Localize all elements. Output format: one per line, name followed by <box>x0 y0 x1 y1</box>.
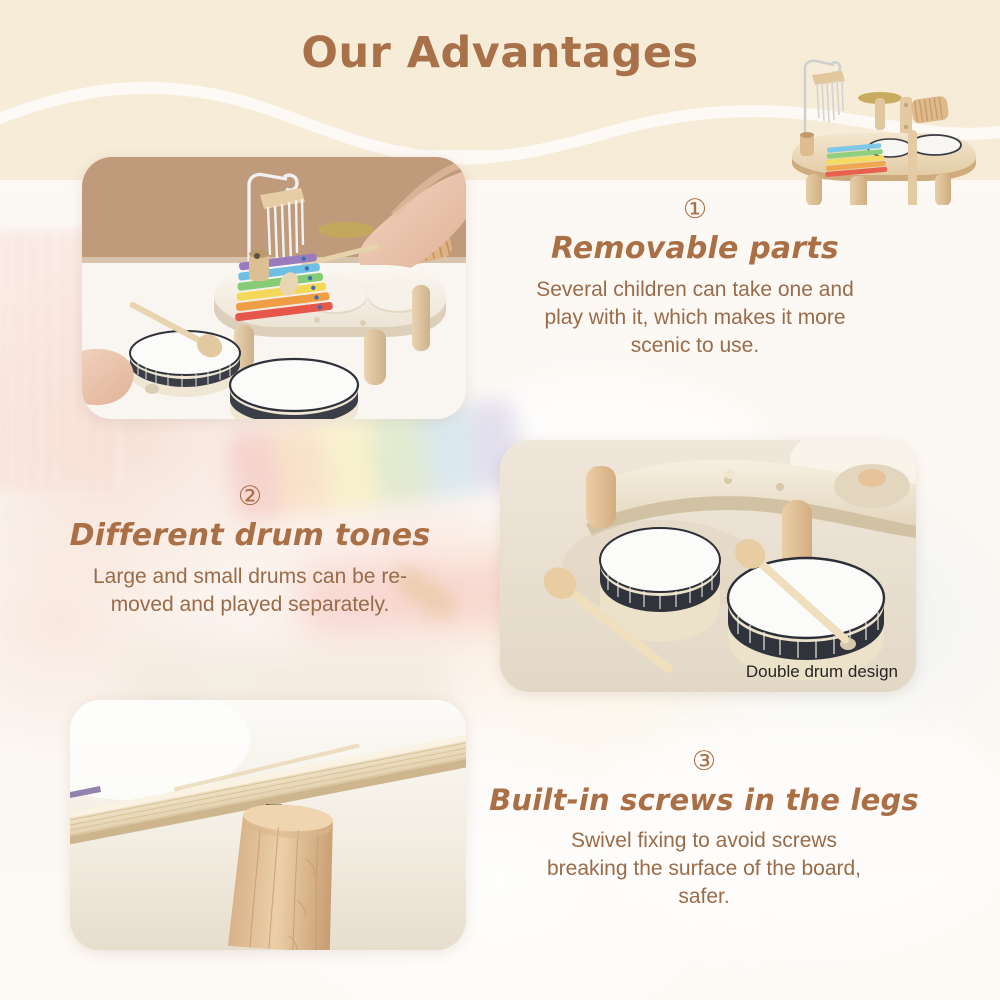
advantage-2-body-line-2: moved and played separately. <box>111 593 390 616</box>
advantage-3-body: Swivel fixing to avoid screws breaking t… <box>478 827 930 911</box>
advantage-3-body-line-2: breaking the surface of the board, <box>547 857 861 880</box>
hero-product-image <box>770 35 985 205</box>
advantage-block-1: ① Removable parts Several children can t… <box>480 196 910 360</box>
advantage-1-body-line-2: play with it, which makes it more <box>544 306 845 329</box>
photo-leg-built-in-screw-closeup <box>70 700 466 950</box>
advantage-1-heading: Removable parts <box>480 231 910 266</box>
advantage-3-body-line-3: safer. <box>678 885 729 908</box>
advantage-block-3: ③ Built-in screws in the legs Swivel fix… <box>478 748 930 911</box>
advantage-2-body-line-1: Large and small drums can be re- <box>93 565 407 588</box>
advantage-3-number: ③ <box>478 748 930 775</box>
advantage-1-body-line-1: Several children can take one and <box>536 278 854 301</box>
advantage-1-body: Several children can take one and play w… <box>480 276 910 360</box>
photo-double-drum-design: Double drum design <box>500 440 916 692</box>
advantage-1-number: ① <box>480 196 910 223</box>
advantage-3-heading: Built-in screws in the legs <box>478 783 930 817</box>
advantage-2-heading: Different drum tones <box>30 518 470 553</box>
advantage-2-number: ② <box>30 483 470 510</box>
advantage-1-body-line-3: scenic to use. <box>631 334 759 357</box>
photo2-caption: Double drum design <box>746 662 898 682</box>
photo-children-playing-removable-drums <box>82 157 466 419</box>
advantage-3-body-line-1: Swivel fixing to avoid screws <box>571 829 837 852</box>
advantage-block-2: ② Different drum tones Large and small d… <box>30 483 470 619</box>
advantage-2-body: Large and small drums can be re- moved a… <box>30 563 470 619</box>
infographic-canvas: Our Advantages <box>0 0 1000 1000</box>
